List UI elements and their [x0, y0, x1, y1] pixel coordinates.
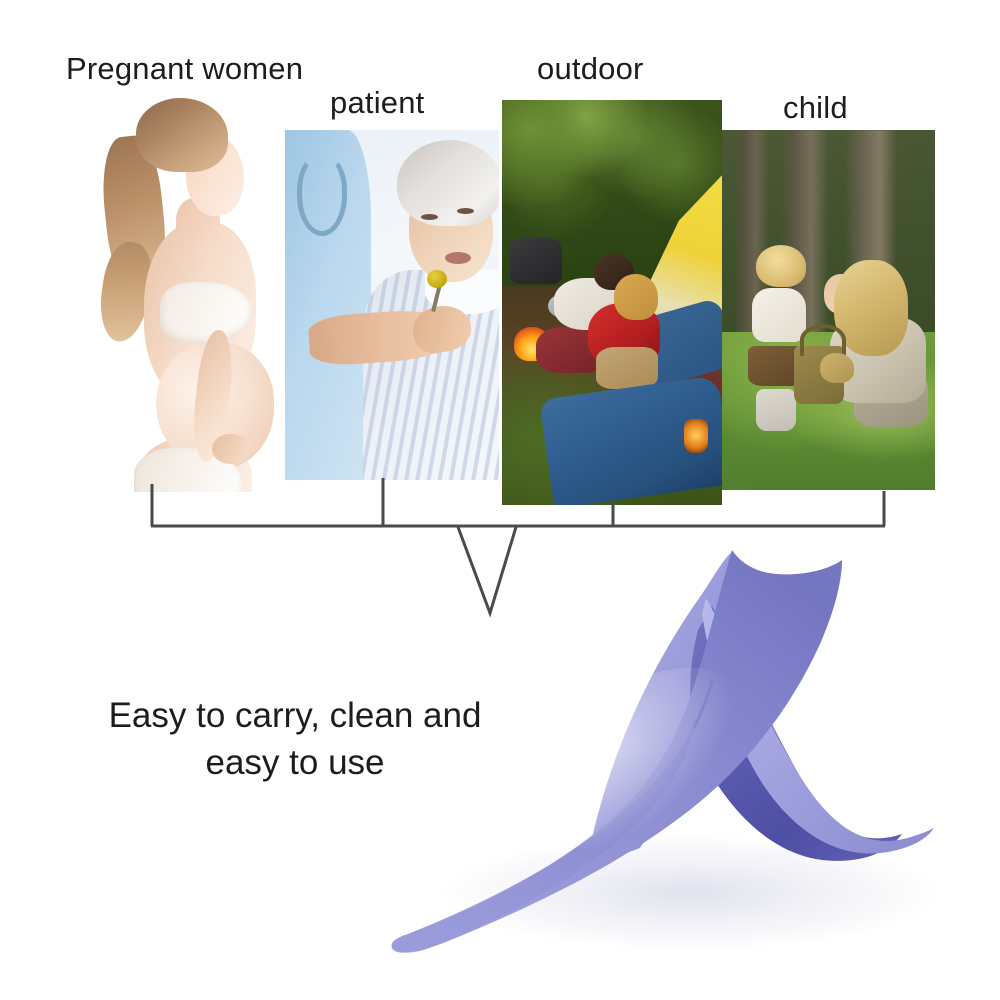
tote-bag-handle — [800, 324, 846, 356]
child-legs-shape — [756, 389, 796, 431]
patient-eye-left — [421, 214, 438, 220]
hair-crown-shape — [136, 98, 228, 172]
spoon-food — [427, 270, 447, 288]
infographic-canvas: Pregnant women patient outdoor child — [0, 0, 1000, 1000]
category-label-outdoor: outdoor — [537, 52, 644, 86]
stethoscope-icon — [297, 154, 347, 236]
patient-eye-right — [457, 208, 474, 214]
child-hair-shape — [756, 245, 806, 287]
product-image-urination-funnel — [390, 548, 970, 968]
category-photo-patient — [285, 130, 499, 480]
backpack-shape — [510, 238, 562, 284]
category-label-child: child — [783, 91, 848, 125]
category-photo-outdoor — [502, 100, 722, 505]
patient-mouth — [445, 252, 471, 264]
child-top-shape — [752, 288, 806, 342]
camper-khaki-shorts — [596, 347, 658, 389]
category-photo-pregnant-women — [100, 92, 278, 492]
category-label-pregnant-women: Pregnant women — [66, 52, 303, 86]
stuffed-toy-shape — [820, 353, 854, 383]
camper-blonde-hair — [614, 274, 658, 320]
category-label-patient: patient — [330, 86, 424, 120]
patient-hair-shape — [397, 140, 499, 226]
hand-shape — [212, 434, 250, 464]
lantern-shape — [684, 419, 708, 453]
category-photo-child — [722, 130, 935, 490]
